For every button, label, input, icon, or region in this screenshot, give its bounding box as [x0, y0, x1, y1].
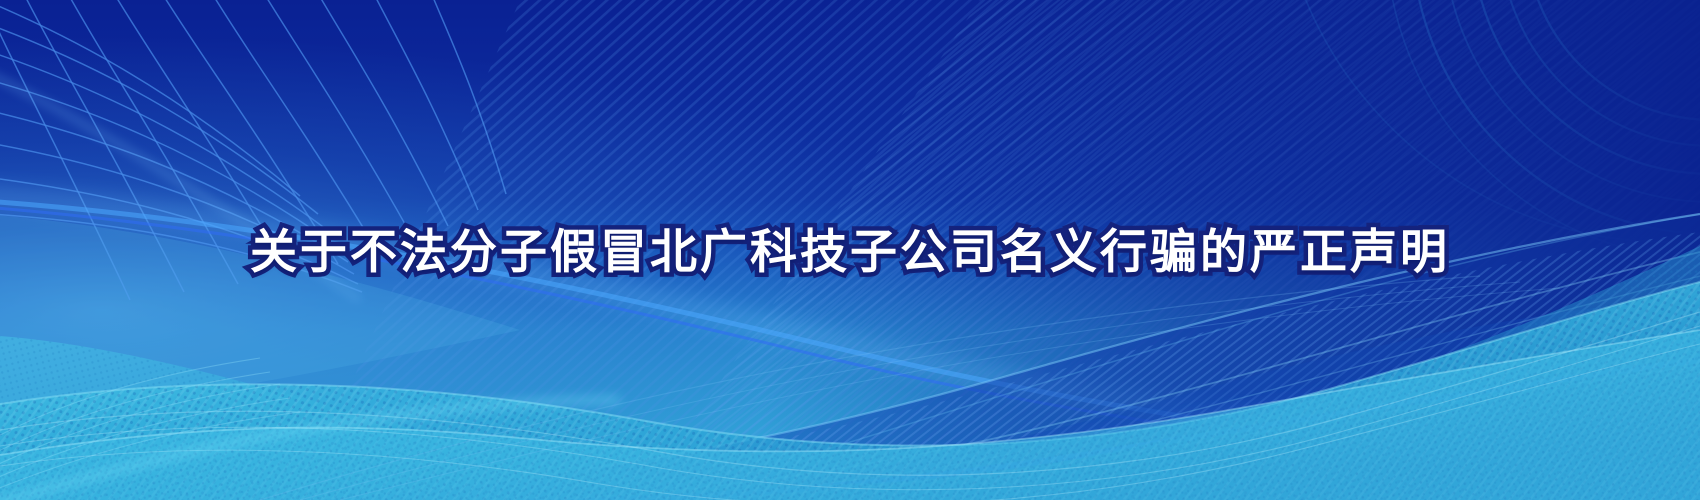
announcement-banner: 关于不法分子假冒北广科技子公司名义行骗的严正声明	[0, 0, 1700, 500]
background-artwork	[0, 0, 1700, 500]
